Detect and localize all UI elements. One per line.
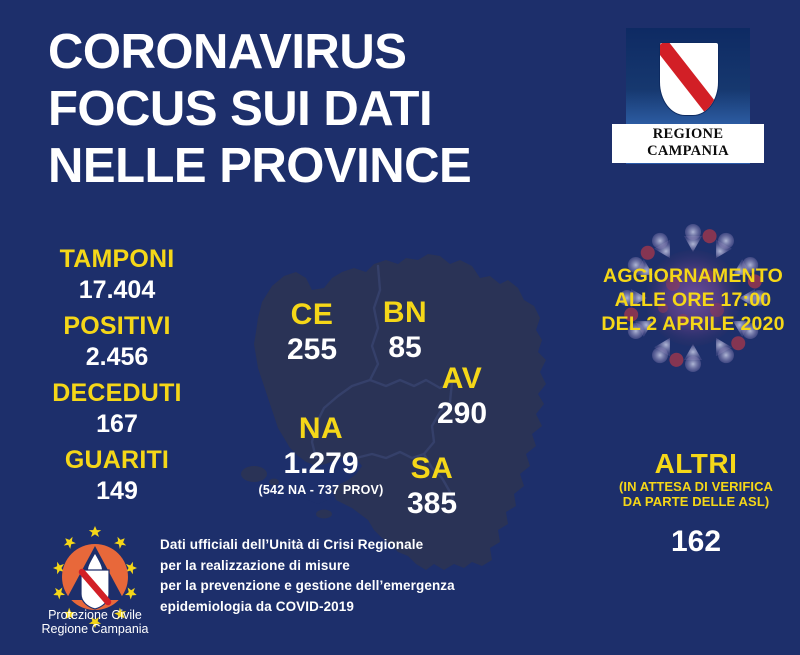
regione-campania-logo: REGIONE CAMPANIA xyxy=(612,28,764,176)
province-breakdown-na: (542 NA - 737 PROV) xyxy=(246,482,396,498)
province-code-na: NA xyxy=(246,412,396,446)
stat-value-guariti: 149 xyxy=(28,475,206,508)
stat-label-tamponi: TAMPONI xyxy=(28,244,206,274)
province-value-sa: 385 xyxy=(382,486,482,522)
province-label-na: NA 1.279 (542 NA - 737 PROV) xyxy=(246,412,396,498)
shield-red-stripe xyxy=(659,42,719,116)
title-line-2: FOCUS SUI DATI xyxy=(48,81,578,138)
footer-line-3: per la prevenzione e gestione dell’emerg… xyxy=(160,576,490,597)
stat-label-guariti: GUARITI xyxy=(28,445,206,475)
altri-note-line-1: (IN ATTESA DI VERIFICA xyxy=(592,479,800,494)
footer-line-4: epidemiologia da COVID-2019 xyxy=(160,597,490,618)
stat-value-tamponi: 17.404 xyxy=(28,274,206,307)
province-label-sa: SA 385 xyxy=(382,452,482,522)
province-label-bn: BN 85 xyxy=(360,296,450,366)
update-block: AGGIORNAMENTO ALLE ORE 17:00 DEL 2 APRIL… xyxy=(586,222,800,374)
stat-value-deceduti: 167 xyxy=(28,408,206,441)
province-code-ce: CE xyxy=(262,298,362,332)
update-line-1: AGGIORNAMENTO xyxy=(586,264,800,288)
altri-value: 162 xyxy=(592,525,800,559)
infographic-poster: CORONAVIRUS FOCUS SUI DATI NELLE PROVINC… xyxy=(0,0,800,655)
protezione-civile-label: Protezione Civile Regione Campania xyxy=(28,608,162,636)
update-text: AGGIORNAMENTO ALLE ORE 17:00 DEL 2 APRIL… xyxy=(586,264,800,336)
update-line-3: DEL 2 APRILE 2020 xyxy=(586,312,800,336)
footer-line-2: per la realizzazione di misure xyxy=(160,556,490,577)
pc-shield-icon xyxy=(81,570,109,609)
stat-label-deceduti: DECEDUTI xyxy=(28,378,206,408)
stat-label-positivi: POSITIVI xyxy=(28,311,206,341)
province-value-bn: 85 xyxy=(360,330,450,366)
altri-title: ALTRI xyxy=(592,448,800,479)
island-capri xyxy=(316,510,332,519)
province-code-bn: BN xyxy=(360,296,450,330)
footer-line-1: Dati ufficiali dell’Unità di Crisi Regio… xyxy=(160,535,490,556)
update-line-2: ALLE ORE 17:00 xyxy=(586,288,800,312)
altri-block: ALTRI (IN ATTESA DI VERIFICA DA PARTE DE… xyxy=(592,448,800,559)
province-value-ce: 255 xyxy=(262,332,362,368)
province-label-av: AV 290 xyxy=(412,362,512,432)
title-line-1: CORONAVIRUS xyxy=(48,24,578,81)
page-title: CORONAVIRUS FOCUS SUI DATI NELLE PROVINC… xyxy=(48,24,578,195)
province-code-sa: SA xyxy=(382,452,482,486)
province-code-av: AV xyxy=(412,362,512,396)
footer-note: Dati ufficiali dell’Unità di Crisi Regio… xyxy=(160,535,490,617)
province-value-av: 290 xyxy=(412,396,512,432)
province-value-na: 1.279 xyxy=(246,446,396,482)
statistics-column: TAMPONI 17.404 POSITIVI 2.456 DECEDUTI 1… xyxy=(28,244,206,512)
stat-value-positivi: 2.456 xyxy=(28,341,206,374)
campania-shield-icon xyxy=(659,42,719,116)
altri-note-line-2: DA PARTE DELLE ASL) xyxy=(592,494,800,509)
title-line-3: NELLE PROVINCE xyxy=(48,138,578,195)
pc-label-line-1: Protezione Civile xyxy=(28,608,162,622)
regione-campania-label: REGIONE CAMPANIA xyxy=(612,124,764,163)
pc-label-line-2: Regione Campania xyxy=(28,622,162,636)
province-label-ce: CE 255 xyxy=(262,298,362,368)
